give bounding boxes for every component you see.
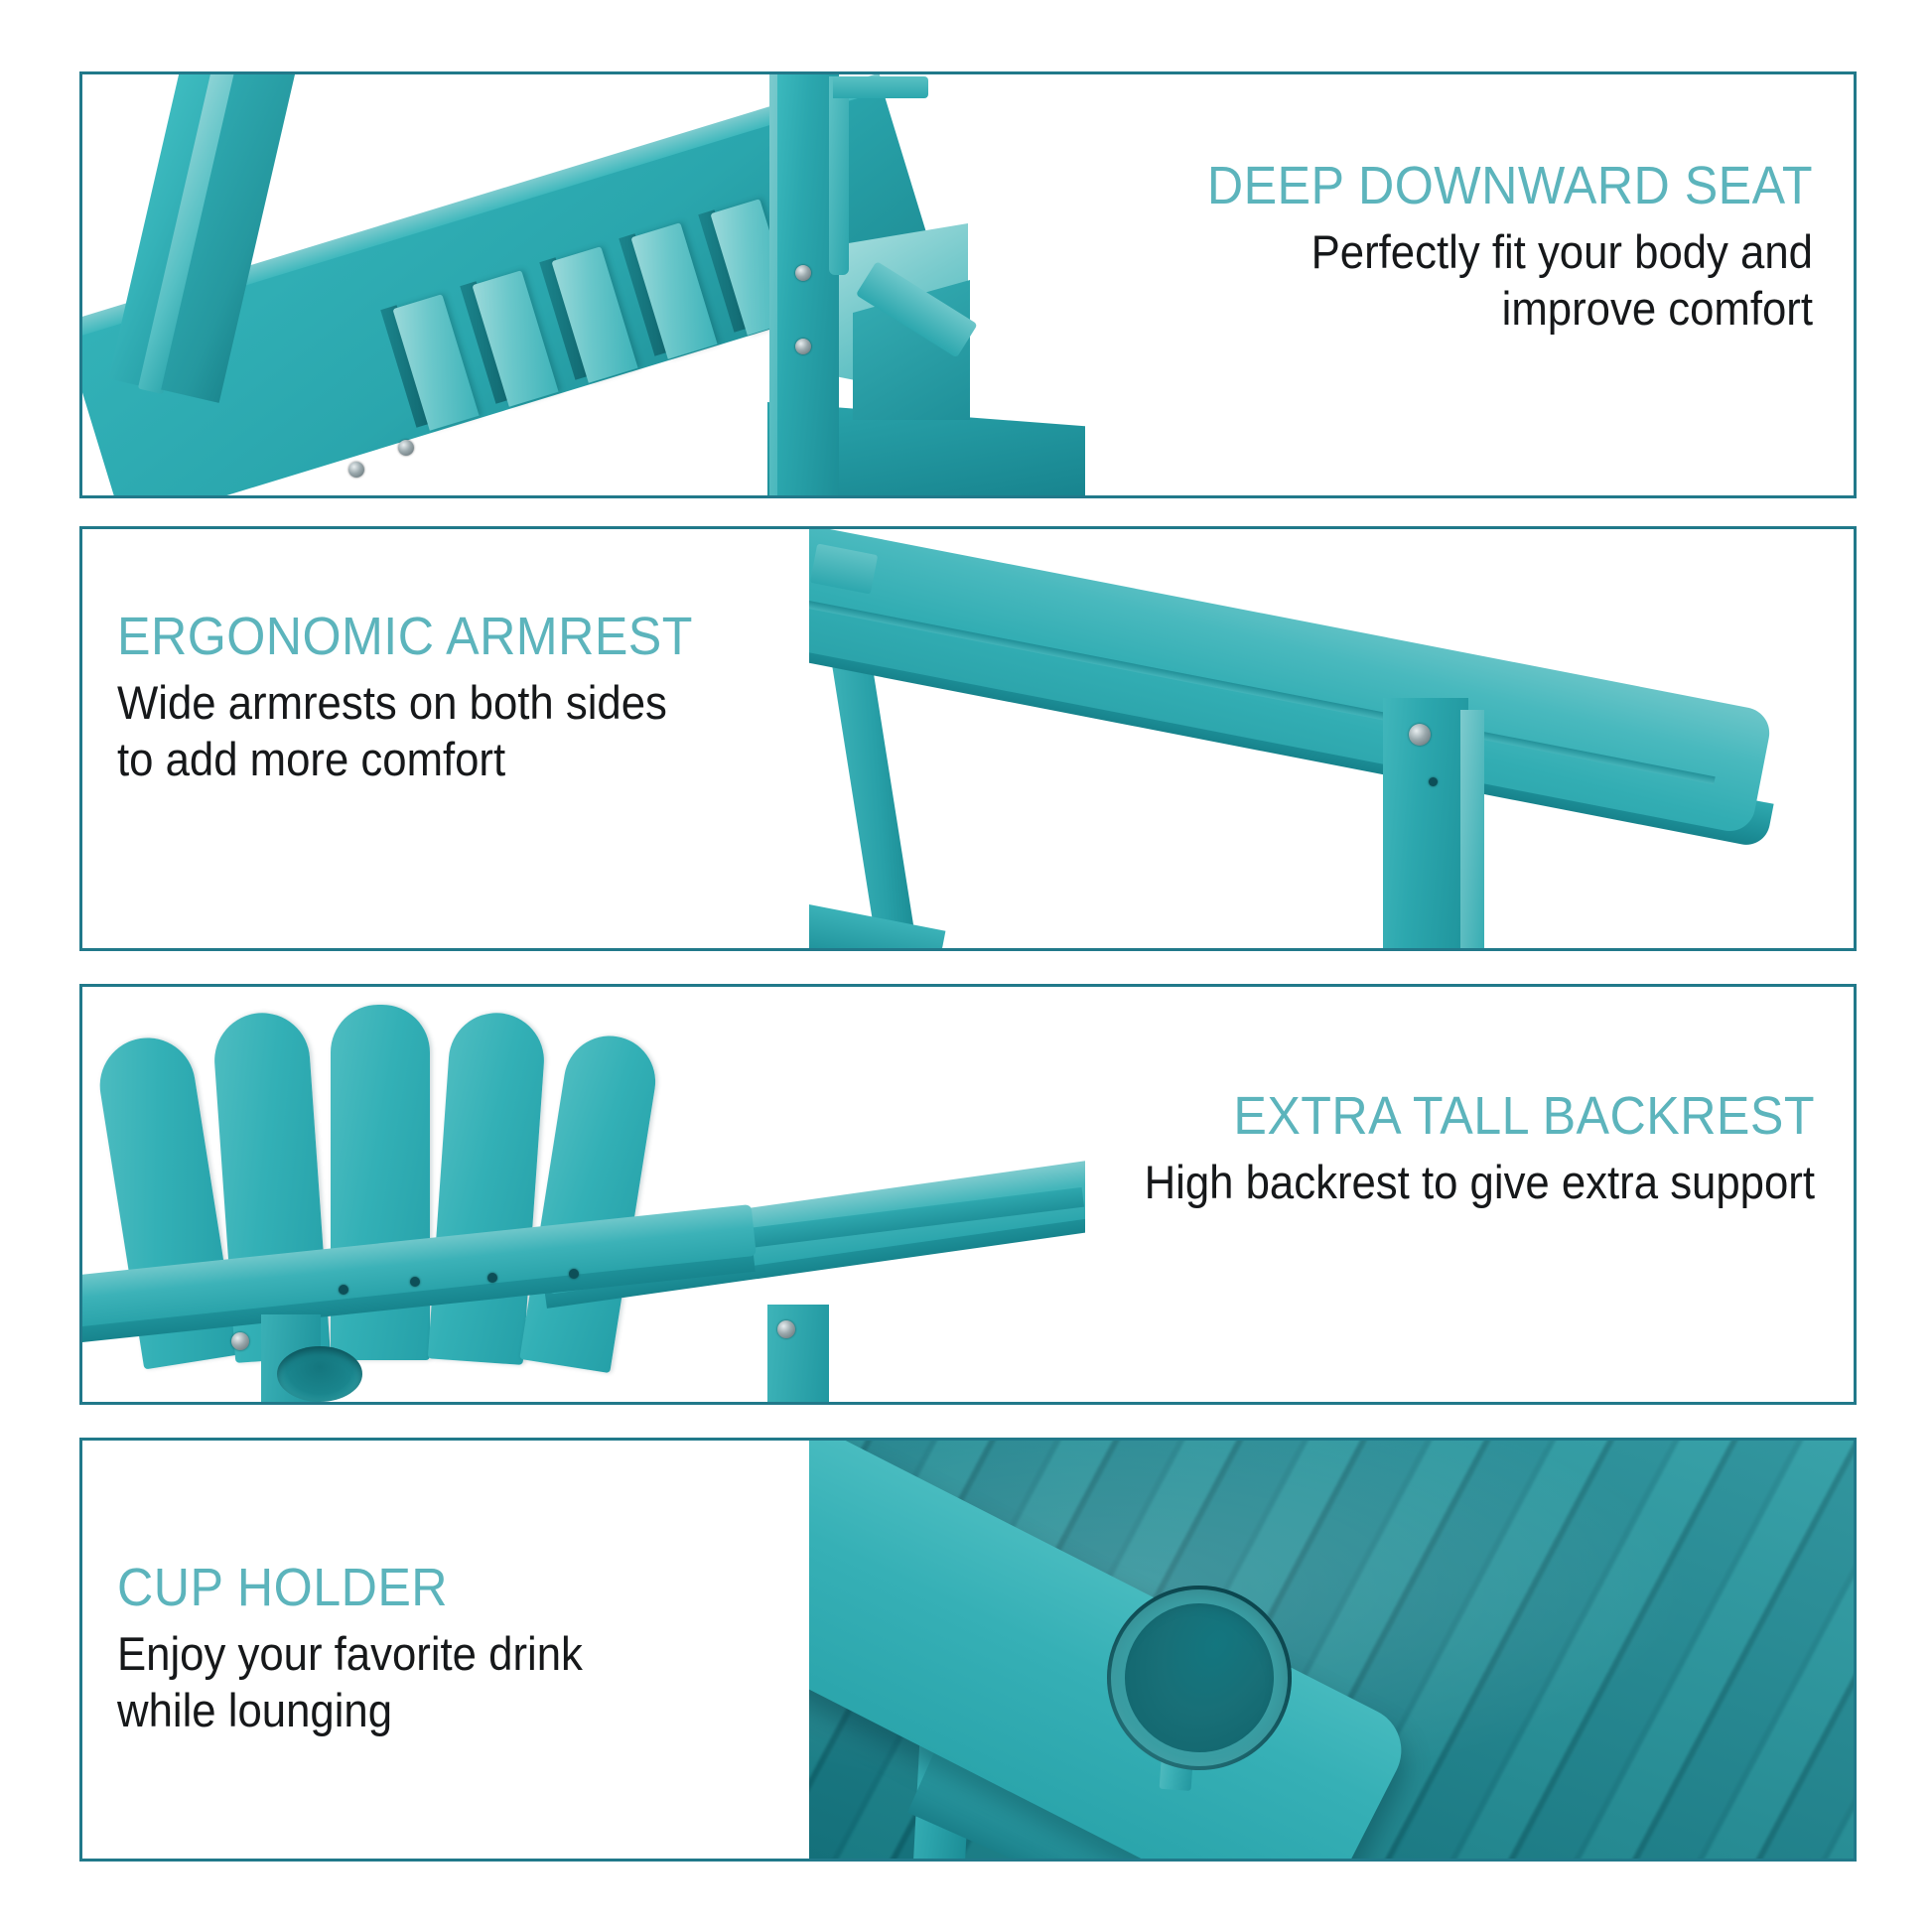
feature-image-ergonomic-armrest [809, 529, 1854, 948]
feature-text-cup-holder: CUP HOLDER Enjoy your favorite drink whi… [117, 1559, 812, 1738]
screw-icon [398, 440, 414, 456]
feature-body-line: Wide armrests on both sides [117, 675, 819, 731]
feature-body-line: to add more comfort [117, 732, 819, 787]
screw-hole-icon [410, 1277, 420, 1287]
feature-image-deep-downward-seat [82, 74, 1155, 495]
armrest-support-post-edge [1460, 710, 1484, 948]
screw-hole-icon [569, 1269, 579, 1279]
screw-icon [348, 462, 364, 478]
screw-icon [1409, 724, 1431, 746]
screw-icon [795, 339, 811, 354]
cup-holder-hole [277, 1346, 362, 1402]
feature-body-line: improve comfort [1055, 281, 1813, 337]
infographic-board: DEEP DOWNWARD SEAT Perfectly fit your bo… [0, 0, 1932, 1932]
feature-heading: EXTRA TALL BACKREST [900, 1087, 1815, 1145]
feature-heading: CUP HOLDER [117, 1559, 763, 1616]
seat-illustration [82, 74, 1155, 495]
screw-hole-icon [1429, 777, 1438, 786]
feature-text-deep-downward-seat: DEEP DOWNWARD SEAT Perfectly fit your bo… [999, 157, 1813, 337]
feature-body-line: while lounging [117, 1683, 763, 1738]
arm-rail-vertical [829, 76, 849, 275]
far-armrest-support-post [767, 1305, 829, 1402]
screw-hole-icon [487, 1273, 497, 1283]
feature-heading: DEEP DOWNWARD SEAT [1055, 157, 1813, 214]
feature-body-line: Enjoy your favorite drink [117, 1626, 763, 1682]
feature-body-line: High backrest to give extra support [900, 1155, 1815, 1210]
feature-text-ergonomic-armrest: ERGONOMIC ARMREST Wide armrests on both … [117, 608, 872, 787]
feature-heading: ERGONOMIC ARMREST [117, 608, 819, 665]
screw-hole-icon [339, 1285, 348, 1295]
screw-icon [231, 1332, 249, 1350]
arm-rail-top [833, 76, 928, 98]
screw-icon [777, 1320, 795, 1338]
screw-icon [795, 265, 811, 281]
feature-image-cup-holder [809, 1441, 1854, 1859]
feature-body-line: Perfectly fit your body and [1055, 224, 1813, 280]
feature-text-extra-tall-backrest: EXTRA TALL BACKREST High backrest to giv… [832, 1087, 1815, 1211]
